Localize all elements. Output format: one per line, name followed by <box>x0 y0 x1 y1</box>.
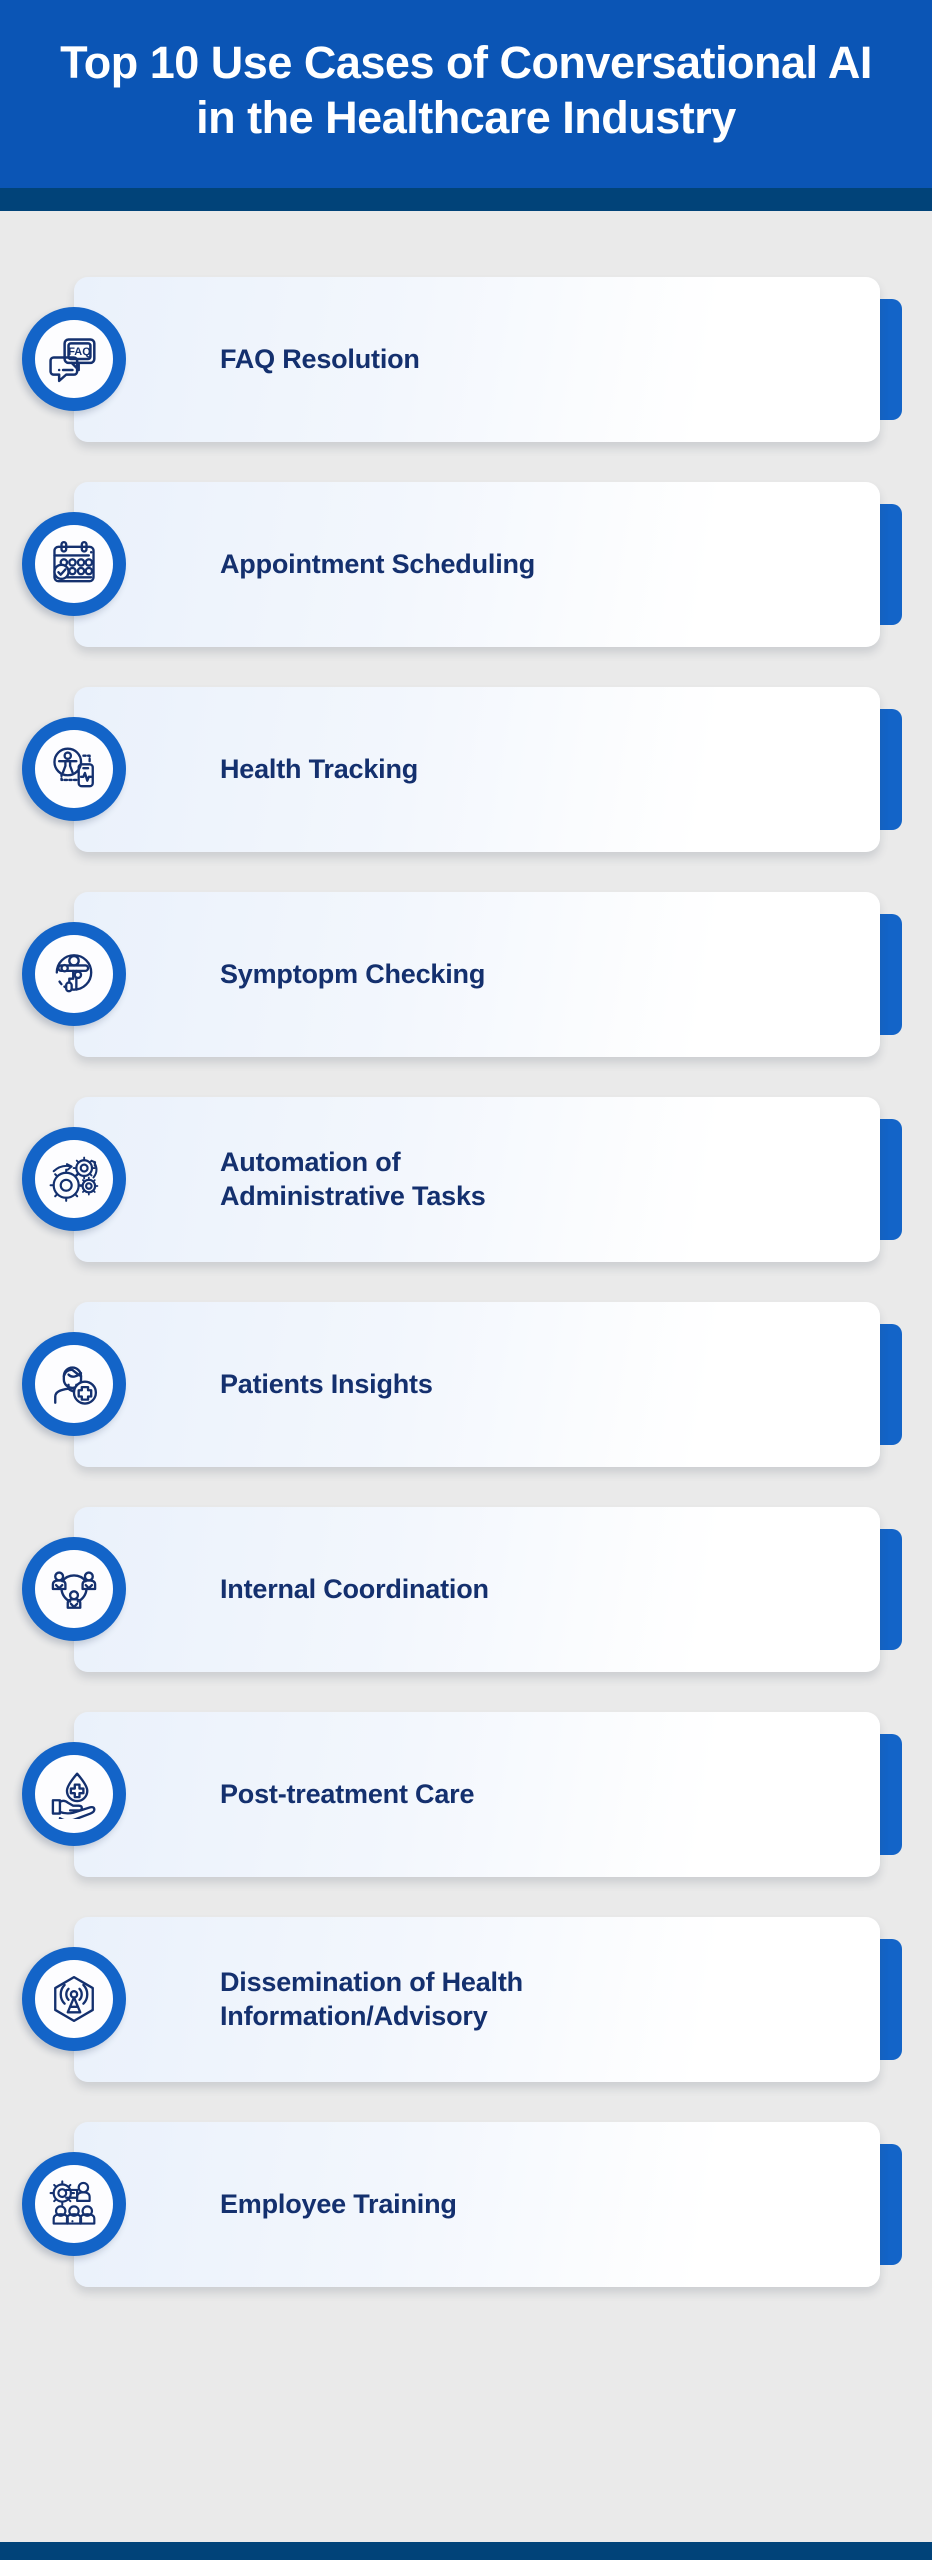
list-item-label: Dissemination of Health Information/Advi… <box>220 1965 832 2033</box>
list-item[interactable]: FAQ FAQ Resolution <box>74 277 902 442</box>
faq-speech-bubble-icon: FAQ <box>35 320 113 398</box>
hand-droplet-cross-icon <box>35 1755 113 1833</box>
footer-divider <box>0 2542 932 2560</box>
row-icon-badge <box>22 2152 126 2256</box>
row-icon-badge <box>22 922 126 1026</box>
body-phone-vitals-icon <box>35 730 113 808</box>
people-network-icon <box>35 1550 113 1628</box>
list-item[interactable]: Employee Training <box>74 2122 902 2287</box>
list-item-label: FAQ Resolution <box>220 342 832 376</box>
broadcast-hexagon-icon <box>35 1960 113 2038</box>
row-icon-badge <box>22 1332 126 1436</box>
list-item[interactable]: Dissemination of Health Information/Advi… <box>74 1917 902 2082</box>
row-icon-badge <box>22 1947 126 2051</box>
list-item[interactable]: Appointment Scheduling <box>74 482 902 647</box>
list-item[interactable]: Symptopm Checking <box>74 892 902 1057</box>
list-item[interactable]: Patients Insights <box>74 1302 902 1467</box>
list-item[interactable]: Automation of Administrative Tasks <box>74 1097 902 1262</box>
row-icon-badge <box>22 1742 126 1846</box>
row-icon-badge <box>22 1537 126 1641</box>
list-item[interactable]: Internal Coordination <box>74 1507 902 1672</box>
list-item-label: Health Tracking <box>220 752 832 786</box>
training-gear-people-icon <box>35 2165 113 2243</box>
use-case-list: FAQ FAQ Resolution <box>0 211 932 2287</box>
row-icon-badge: FAQ <box>22 307 126 411</box>
patient-plus-icon <box>35 1345 113 1423</box>
list-item[interactable]: Health Tracking <box>74 687 902 852</box>
header-banner: Top 10 Use Cases of Conversational AI in… <box>0 0 932 188</box>
infographic-page: Top 10 Use Cases of Conversational AI in… <box>0 0 932 2560</box>
list-item-label: Post-treatment Care <box>220 1777 832 1811</box>
list-item-label: Employee Training <box>220 2187 832 2221</box>
list-item[interactable]: Post-treatment Care <box>74 1712 902 1877</box>
list-item-label: Internal Coordination <box>220 1572 832 1606</box>
row-icon-badge <box>22 717 126 821</box>
list-item-label: Appointment Scheduling <box>220 547 832 581</box>
row-icon-badge <box>22 512 126 616</box>
header-divider <box>0 188 932 211</box>
gears-automation-icon <box>35 1140 113 1218</box>
list-item-label: Symptopm Checking <box>220 957 832 991</box>
calendar-check-icon <box>35 525 113 603</box>
list-item-label: Automation of Administrative Tasks <box>220 1145 832 1213</box>
symptom-figure-icon <box>35 935 113 1013</box>
row-icon-badge <box>22 1127 126 1231</box>
list-item-label: Patients Insights <box>220 1367 832 1401</box>
page-title: Top 10 Use Cases of Conversational AI in… <box>60 36 872 146</box>
